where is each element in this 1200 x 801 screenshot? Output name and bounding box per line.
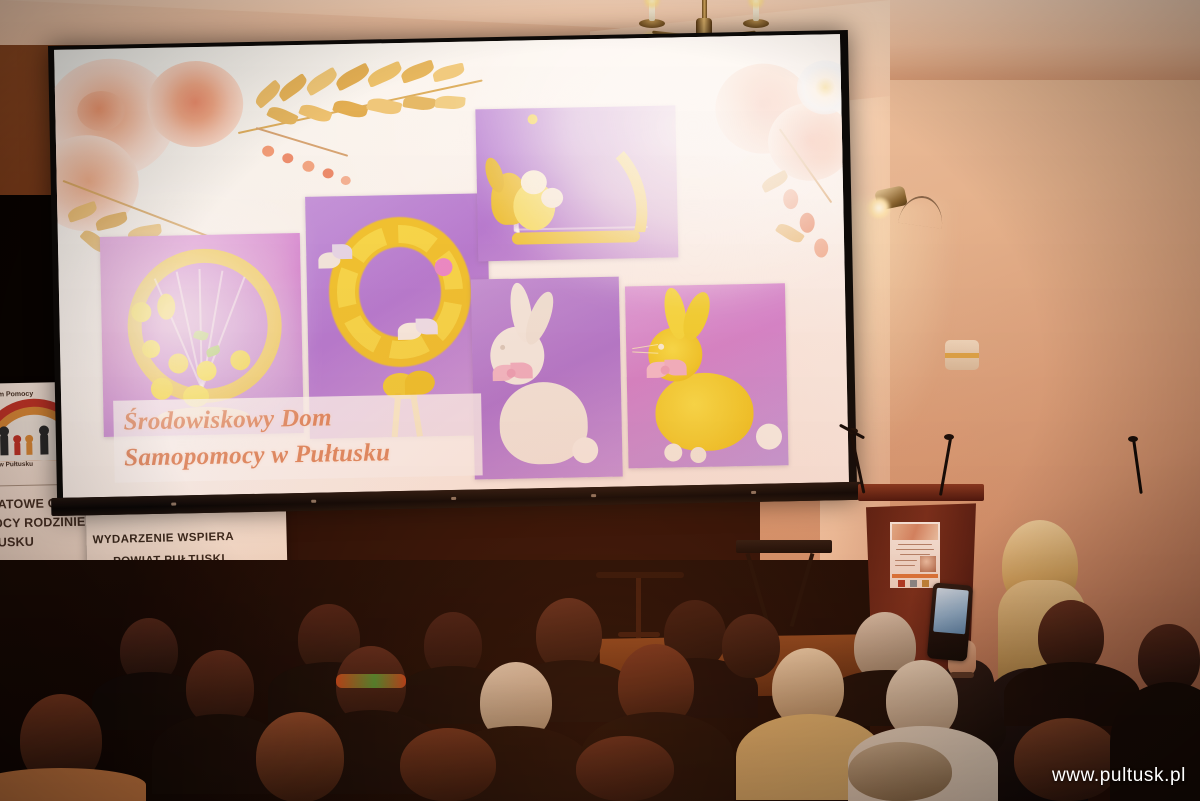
audience-headband: [336, 674, 406, 688]
chandelier-bulb-glow: [644, 0, 660, 11]
slide-photo-palm-fan: [475, 105, 678, 261]
wall-sensor-stripe: [945, 353, 979, 358]
chandelier-bulb-glow: [748, 0, 764, 11]
poster-logo-icon: [910, 580, 917, 587]
microphone-head: [944, 434, 954, 440]
watermark: www.pultusk.pl: [1052, 765, 1186, 787]
slide-photo-yellow-bunny: [625, 283, 789, 468]
photo-scene: Centrum Pomocy Rodzinie w Pułtusku POWIA…: [0, 0, 1200, 801]
berry-spray: [244, 121, 376, 204]
poster-crest-icon: [898, 580, 905, 587]
smartphone[interactable]: [927, 582, 973, 661]
projection-screen-surface: Środowiskowy Dom Samopomocy w Pułtusku: [54, 34, 849, 498]
poster-image: [892, 524, 938, 540]
slide-title: Środowiskowy Dom Samopomocy w Pułtusku: [123, 397, 524, 477]
lectern-top: [858, 484, 984, 501]
side-table-base: [618, 632, 660, 637]
wall-sensor-box: [945, 340, 979, 370]
audience-head: [848, 742, 952, 801]
audience-head: [722, 614, 780, 678]
keyboard-instrument: [736, 540, 832, 553]
spotlight-glow: [866, 197, 892, 219]
audience-head: [576, 736, 674, 801]
poster-portrait: [920, 556, 936, 572]
lectern-poster: [890, 522, 940, 588]
microphone-head: [1128, 436, 1138, 442]
audience-head: [400, 728, 496, 801]
berry-spray: [756, 154, 849, 286]
audience-head: [1014, 718, 1120, 801]
poster-accent-bar: [892, 574, 938, 578]
side-table-leg: [636, 578, 641, 638]
audience-head: [256, 712, 344, 801]
audience-shoulders: [0, 768, 146, 801]
bracelet: [950, 672, 974, 678]
poster-logo-icon: [922, 580, 929, 587]
projection-screen: Środowiskowy Dom Samopomocy w Pułtusku: [48, 30, 857, 516]
smartphone-screen: [933, 588, 969, 635]
presentation-slide: Środowiskowy Dom Samopomocy w Pułtusku: [54, 34, 849, 498]
